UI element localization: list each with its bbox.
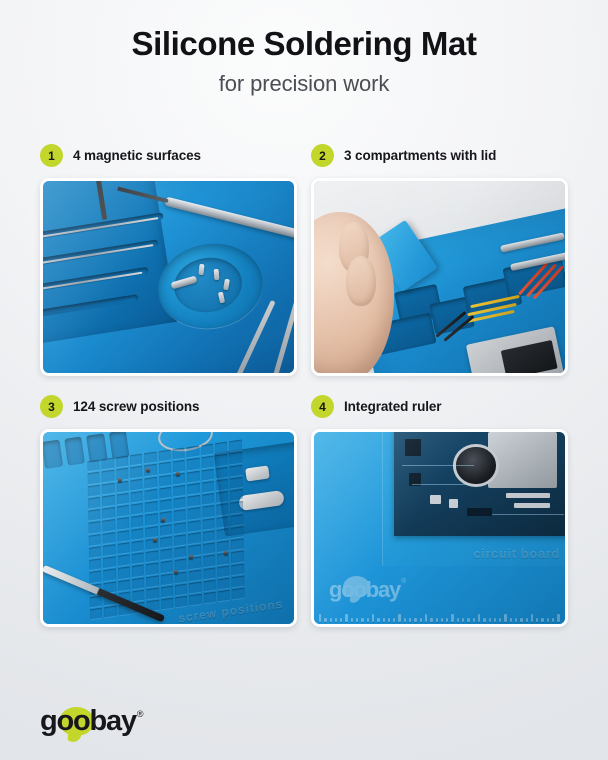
screw-position-cell <box>88 484 100 496</box>
screw-position-cell <box>118 579 130 591</box>
screw-position-cell <box>231 501 243 513</box>
screw-position-cell <box>131 528 143 540</box>
feature-card-1: 1 4 magnetic surfaces <box>40 143 297 376</box>
feature-caption-4: 4 Integrated ruler <box>311 394 568 420</box>
registered-trademark-symbol: ® <box>137 709 144 719</box>
page-subtitle: for precision work <box>0 71 608 97</box>
feature-badge-1: 1 <box>40 144 63 167</box>
ruler-tick <box>462 618 464 622</box>
ruler-tick <box>467 618 469 622</box>
screw-position-cell <box>175 559 187 571</box>
screw-position-cell <box>174 522 186 534</box>
screw-position-cell <box>145 489 157 501</box>
screw-position-cell <box>160 536 172 548</box>
screw-position-cell <box>230 464 242 476</box>
feature-badge-2: 2 <box>311 144 334 167</box>
ruler-tick <box>398 614 400 622</box>
screw-position-cell <box>88 472 100 484</box>
screw-position-cell <box>88 509 100 521</box>
screw-position-cell <box>232 576 244 588</box>
screw-position-cell <box>118 567 130 579</box>
screw-position-cell <box>160 561 172 573</box>
screw-position-cell <box>102 482 114 494</box>
screw-position-cell <box>159 499 171 511</box>
screw-position-cell <box>218 578 230 590</box>
screw-position-cell <box>159 474 171 486</box>
screw-position-cell <box>161 586 173 598</box>
screw-position-cell <box>203 530 215 542</box>
screw-position-cell <box>174 534 186 546</box>
screw-position-cell <box>130 466 142 478</box>
ruler-tick <box>393 618 395 622</box>
ruler-tick <box>388 618 390 622</box>
screw-position-cell <box>146 526 158 538</box>
screw-position-cell <box>232 588 244 600</box>
feature-label-3: 124 screw positions <box>73 399 199 414</box>
screw-position-cell <box>146 563 158 575</box>
ruler-tick <box>441 618 443 622</box>
screw-position-cell <box>230 489 242 501</box>
screw-position-cell <box>187 470 199 482</box>
screw-position-cell <box>102 458 114 470</box>
screw-position-cell <box>189 569 201 581</box>
screw-position-cell <box>131 478 143 490</box>
ruler-tick <box>420 618 422 622</box>
feature-photo-integrated-ruler: circuit board goobay ® <box>311 429 568 627</box>
screw-position-cell <box>159 487 171 499</box>
screw-position-cell <box>218 590 230 602</box>
screw <box>213 269 219 280</box>
screw-position-cell <box>230 477 242 489</box>
screw-position-cell <box>89 534 101 546</box>
ruler-tick <box>541 618 543 622</box>
screw-position-cell <box>145 476 157 488</box>
screw-position-cell <box>132 553 144 565</box>
ruler-tick <box>483 618 485 622</box>
screw-position-cell <box>131 491 143 503</box>
screw-position-cell <box>90 608 102 620</box>
integrated-ruler-scale <box>314 609 565 622</box>
ruler-tick <box>520 618 522 622</box>
screw-position-cell <box>160 549 172 561</box>
ruler-tick <box>324 618 326 622</box>
screw-position-cell <box>216 479 228 491</box>
screw-position-cell <box>103 532 115 544</box>
ruler-tick <box>478 614 480 622</box>
screw-position-cell <box>132 540 144 552</box>
feature-caption-3: 3 124 screw positions <box>40 394 297 420</box>
screw-position-cell <box>144 452 156 464</box>
screw-position-cell <box>103 519 115 531</box>
screw-position-cell <box>104 606 116 618</box>
screw-position-cell <box>231 551 243 563</box>
screw-position-cell <box>188 532 200 544</box>
screw-position-cell <box>145 501 157 513</box>
screw-position-cell <box>161 573 173 585</box>
embossed-circuit-board-text: circuit board <box>473 546 560 561</box>
ruler-tick <box>404 618 406 622</box>
screw-position-cell <box>202 481 214 493</box>
screw-position-cell <box>189 594 201 606</box>
ruler-tick <box>489 618 491 622</box>
screw-position-cell <box>231 526 243 538</box>
ruler-tick <box>377 618 379 622</box>
screw-position-cell <box>117 530 129 542</box>
ruler-tick <box>372 614 374 622</box>
screw-position-cell <box>187 458 199 470</box>
ruler-tick <box>414 618 416 622</box>
ruler-tick <box>330 618 332 622</box>
screw-position-cell <box>187 446 199 458</box>
ruler-tick <box>457 618 459 622</box>
screw-position-cell <box>132 565 144 577</box>
ruler-tick <box>504 614 506 622</box>
ruler-tick <box>335 618 337 622</box>
ruler-tick <box>446 618 448 622</box>
screw-position-cell <box>188 495 200 507</box>
feature-photo-magnetic-surfaces <box>40 178 297 376</box>
ruler-tick <box>356 618 358 622</box>
screw-position-cell <box>174 497 186 509</box>
screw-position-cell <box>201 468 213 480</box>
ruler-tick <box>340 618 342 622</box>
feature-card-4: 4 Integrated ruler <box>311 394 568 627</box>
screw-position-cell <box>203 580 215 592</box>
screw-position-cell <box>174 547 186 559</box>
screw-position-cell <box>204 592 216 604</box>
screw-position-cell <box>174 509 186 521</box>
screw-position-cell <box>117 493 129 505</box>
ruler-tick <box>557 614 559 622</box>
screw-position-cell <box>89 559 101 571</box>
screw-position-cell <box>147 588 159 600</box>
ruler-tick <box>451 614 453 622</box>
header: Silicone Soldering Mat for precision wor… <box>0 0 608 97</box>
screw-position-cell <box>117 542 129 554</box>
screw-position-cell <box>215 442 227 454</box>
screw-position-cell <box>188 507 200 519</box>
screw-position-cell <box>202 518 214 530</box>
screw-position-cell <box>173 448 185 460</box>
screw-position-cell <box>216 503 228 515</box>
screw-position-cell <box>89 571 101 583</box>
screw-position-cell <box>88 460 100 472</box>
screw-position-cell <box>103 557 115 569</box>
ruler-tick <box>531 614 533 622</box>
screw-position-cell <box>203 543 215 555</box>
screw-position-cell <box>217 565 229 577</box>
screw-position-cell <box>116 480 128 492</box>
screw-position-cell <box>118 555 130 567</box>
screw-position-cell <box>215 454 227 466</box>
ruler-tick <box>345 614 347 622</box>
screw-position-cell <box>88 497 100 509</box>
screw-position-cell <box>102 470 114 482</box>
screw-position-cell <box>103 544 115 556</box>
feature-caption-2: 2 3 compartments with lid <box>311 143 568 169</box>
screw-position-cell <box>188 520 200 532</box>
screw-position-cell <box>89 521 101 533</box>
ruler-tick <box>536 618 538 622</box>
brand-name: goobay <box>40 706 136 736</box>
ruler-tick <box>436 618 438 622</box>
ruler-tick <box>361 618 363 622</box>
ruler-tick <box>425 614 427 622</box>
screw-position-cell <box>116 456 128 468</box>
feature-label-4: Integrated ruler <box>344 399 441 414</box>
screw-position-cell <box>145 513 157 525</box>
page-title: Silicone Soldering Mat <box>0 26 608 63</box>
screw-position-cell <box>217 528 229 540</box>
footer: goobay ® <box>40 706 144 736</box>
screw-position-cell <box>89 546 101 558</box>
ruler-tick <box>526 618 528 622</box>
feature-grid: 1 4 magnetic surfaces <box>40 143 568 627</box>
feature-badge-3: 3 <box>40 395 63 418</box>
ruler-tick <box>547 618 549 622</box>
screw-position-cell <box>103 507 115 519</box>
screw-position-cell <box>104 569 116 581</box>
screw-position-cell <box>161 598 173 610</box>
screw-position-cell <box>158 450 170 462</box>
screw-position-cell <box>217 516 229 528</box>
screw-position-cell <box>202 505 214 517</box>
ruler-tick <box>383 618 385 622</box>
screw-position-cell <box>230 452 242 464</box>
feature-card-2: 2 3 compartments with lid <box>311 143 568 376</box>
screw-position-cell <box>203 555 215 567</box>
screw-position-cell <box>201 444 213 456</box>
ruler-tick <box>367 618 369 622</box>
feature-caption-1: 1 4 magnetic surfaces <box>40 143 297 169</box>
screw-position-cell <box>131 503 143 515</box>
screw-position-cell <box>173 460 185 472</box>
ruler-tick <box>409 618 411 622</box>
feature-card-3: 3 124 screw positions <box>40 394 297 627</box>
screw-position-cell <box>117 505 129 517</box>
screw-position-cell <box>231 539 243 551</box>
screw-position-cell <box>131 515 143 527</box>
ruler-tick <box>319 614 321 622</box>
screw-position-cell <box>175 584 187 596</box>
screw-position-cell <box>175 596 187 608</box>
goobay-logo: goobay ® <box>40 706 144 736</box>
screw-position-cell <box>188 483 200 495</box>
screw-position-cell <box>117 517 129 529</box>
feature-label-1: 4 magnetic surfaces <box>73 148 201 163</box>
screw-position-cell <box>160 524 172 536</box>
ruler-tick <box>515 618 517 622</box>
screw-position-cell <box>231 514 243 526</box>
feature-photo-screw-positions: screw positions <box>40 429 297 627</box>
feature-badge-4: 4 <box>311 395 334 418</box>
screw-position-cell <box>202 493 214 505</box>
embossed-goobay-logo: goobay ® <box>329 575 406 605</box>
screw-position-cell <box>132 577 144 589</box>
screw-position-cell <box>216 491 228 503</box>
screw-position-cell <box>203 567 215 579</box>
camera-module <box>456 447 496 484</box>
ruler-tick <box>473 618 475 622</box>
circuit-board <box>394 429 568 536</box>
screw-position-cell <box>146 575 158 587</box>
screw-position-cell <box>229 440 241 452</box>
ruler-tick <box>430 618 432 622</box>
screw-position-cell <box>189 582 201 594</box>
ruler-tick <box>494 618 496 622</box>
screw-position-cell <box>130 454 142 466</box>
screw-position-cell <box>232 563 244 575</box>
screw-position-cell <box>90 596 102 608</box>
feature-photo-compartments <box>311 178 568 376</box>
ruler-tick <box>351 618 353 622</box>
screw-position-cell <box>173 485 185 497</box>
screw-position-cell <box>132 590 144 602</box>
ruler-tick <box>510 618 512 622</box>
screw-position-cell <box>146 551 158 563</box>
ruler-tick <box>499 618 501 622</box>
ruler-tick <box>552 618 554 622</box>
feature-label-2: 3 compartments with lid <box>344 148 496 163</box>
screw <box>198 263 204 274</box>
screw-position-cell <box>159 462 171 474</box>
screw-position-cell <box>216 466 228 478</box>
screw-position-cell <box>201 456 213 468</box>
screw-position-cell <box>102 495 114 507</box>
